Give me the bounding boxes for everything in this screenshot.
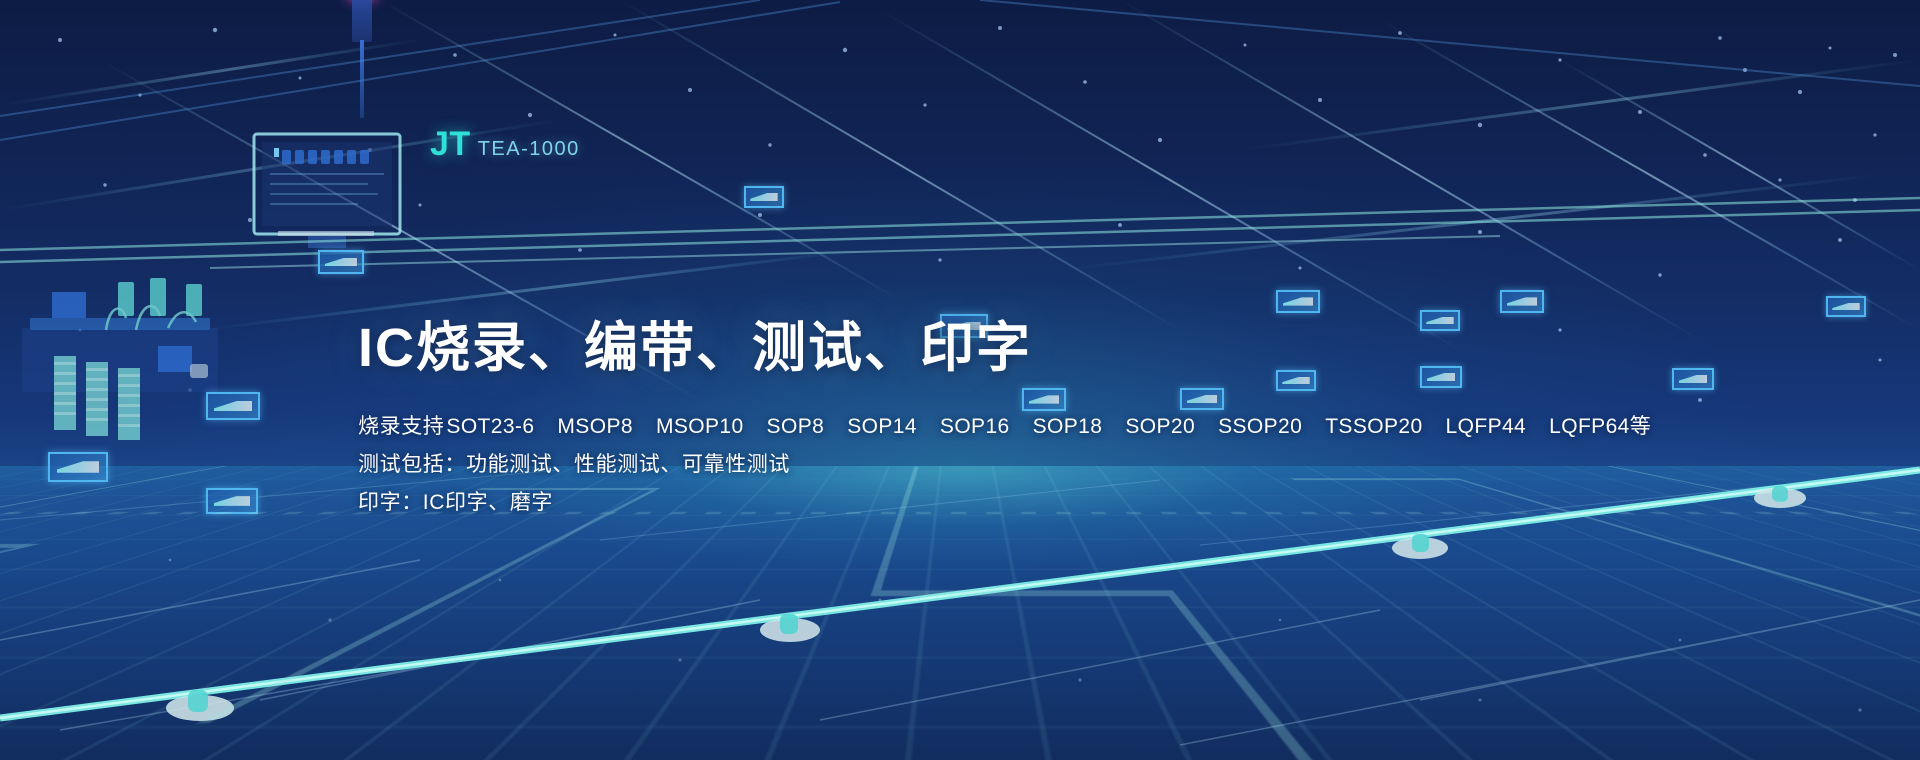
package-chip: SSOP20 [1218, 408, 1302, 446]
package-chip: MSOP8 [557, 408, 633, 446]
ic-tray-icon [206, 392, 260, 420]
package-chip: SOP8 [767, 408, 825, 446]
package-chip: SOP14 [847, 408, 917, 446]
ic-tray-icon [744, 186, 784, 208]
supported-packages-line: 烧录支持 SOT23-6 MSOP8 MSOP10 SOP8 SOP14 SOP… [358, 408, 1658, 446]
ic-service-hero-banner: JT TEA-1000 IC烧录、编带、测试、印字 烧录支持 SOT23-6 M… [0, 0, 1920, 760]
package-chip: SOP20 [1125, 408, 1195, 446]
packages-label: 烧录支持 [358, 408, 444, 446]
ic-tray-icon [1276, 290, 1320, 313]
package-chip: SOP18 [1033, 408, 1103, 446]
logo-mark-text: JT [430, 125, 471, 164]
ic-tray-icon [318, 250, 364, 274]
ic-tray-icon [1500, 290, 1544, 313]
package-chip: TSSOP20 [1325, 408, 1422, 446]
package-chip: SOP16 [940, 408, 1010, 446]
ic-tray-icon [1672, 368, 1714, 390]
package-chip: LQFP44 [1446, 408, 1527, 446]
marking-scope-line: 印字：IC印字、磨字 [358, 484, 1658, 522]
package-chip: LQFP64等 [1549, 408, 1651, 446]
logo-model-text: TEA-1000 [478, 138, 580, 161]
package-chip: SOT23-6 [446, 408, 534, 446]
page-title: IC烧录、编带、测试、印字 [358, 318, 1658, 378]
banner-content: IC烧录、编带、测试、印字 烧录支持 SOT23-6 MSOP8 MSOP10 … [358, 318, 1658, 522]
ic-tray-icon [48, 452, 108, 482]
equipment-logo: JT TEA-1000 [430, 125, 580, 164]
package-chip: MSOP10 [656, 408, 744, 446]
banner-subtitle-group: 烧录支持 SOT23-6 MSOP8 MSOP10 SOP8 SOP14 SOP… [358, 408, 1658, 522]
testing-scope-line: 测试包括：功能测试、性能测试、可靠性测试 [358, 446, 1658, 484]
ic-tray-icon [1826, 296, 1866, 317]
ic-tray-icon [206, 488, 258, 514]
